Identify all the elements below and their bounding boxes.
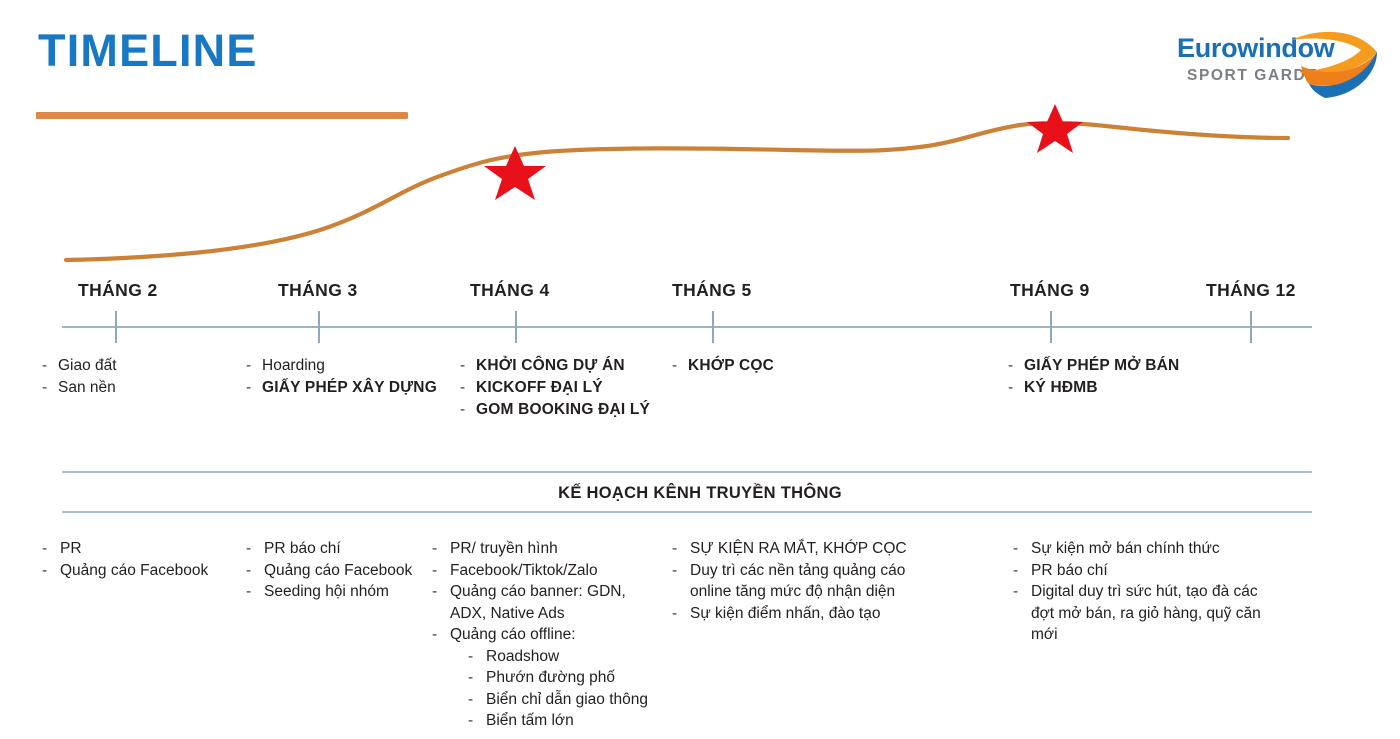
axis-tick-month4 [515,311,517,343]
media-item: - SỰ KIỆN RA MẮT, KHỚP CỌC [672,538,934,560]
media-item: - PR/ truyền hình [432,538,664,560]
bullet-dash: - [460,377,476,399]
media-subitem: - Biển chỉ dẫn giao thông [432,689,664,711]
media-item-text: Quảng cáo Facebook [60,560,242,582]
bullet-dash: - [246,560,264,582]
month-label: THÁNG 5 [672,282,752,300]
media-item-text: Sự kiện mở bán chính thức [1031,538,1265,560]
axis-tick-month9 [1050,311,1052,343]
media-subitem-text: Biển chỉ dẫn giao thông [486,689,648,711]
timeline-column-month2[interactable]: THÁNG 2 - Giao đất - San nền [78,282,158,300]
bullet-dash: - [42,377,58,399]
bullet-dash: - [468,710,486,732]
bullet-dash: - [672,560,690,582]
bullet-dash: - [460,355,476,377]
bullet-dash: - [468,689,486,711]
bullet-dash: - [1008,355,1024,377]
media-item: - Seeding hội nhóm [246,581,436,603]
media-item-text: PR báo chí [1031,560,1265,582]
milestone-item: - Giao đất [42,355,122,377]
media-item: - PR báo chí [1013,560,1265,582]
milestone-list: - GIẤY PHÉP MỞ BÁN - KÝ HĐMB [1008,355,1088,399]
bullet-dash: - [246,377,262,399]
timeline-column-month9[interactable]: THÁNG 9 - GIẤY PHÉP MỞ BÁN - KÝ HĐMB [1010,282,1090,300]
bullet-dash: - [432,581,450,603]
bullet-dash: - [1013,581,1031,603]
media-subitem: - Biển tấm lớn [432,710,664,732]
bullet-dash: - [1013,538,1031,560]
month-label: THÁNG 2 [78,282,158,300]
bullet-dash: - [42,538,60,560]
axis-tick-month2 [115,311,117,343]
media-plan-column-2: - PR báo chí - Quảng cáo Facebook - Seed… [246,538,436,603]
milestone-item: - San nền [42,377,122,399]
milestone-item: - Hoarding [246,355,326,377]
media-item: - Quảng cáo offline: [432,624,664,646]
media-item: - Quảng cáo Facebook [246,560,436,582]
bullet-dash: - [468,646,486,668]
milestone-item: - GIẤY PHÉP XÂY DỰNG [246,377,326,399]
media-item-text: Facebook/Tiktok/Zalo [450,560,664,582]
milestone-item: - KHỚP CỌC [672,355,752,377]
milestone-list: - KHỚP CỌC [672,355,752,377]
timeline-column-month5[interactable]: THÁNG 5 - KHỚP CỌC [672,282,752,300]
media-subitem-text: Roadshow [486,646,559,668]
media-item-text: PR/ truyền hình [450,538,664,560]
milestone-text: GOM BOOKING ĐẠI LÝ [476,399,650,421]
axis-tick-month5 [712,311,714,343]
timeline-column-month12[interactable]: THÁNG 12 [1206,282,1296,300]
milestone-text: Giao đất [58,355,117,377]
bullet-dash: - [672,355,688,377]
media-plan-rule-top [62,471,1312,473]
media-item: - Duy trì các nền tảng quảng cáo online … [672,560,934,603]
month-label: THÁNG 9 [1010,282,1090,300]
month-label: THÁNG 4 [470,282,550,300]
eurowindow-logo: Eurowindow SPORT GARDEN [1167,26,1372,98]
media-item: - Digital duy trì sức hút, tạo đà các đợ… [1013,581,1265,646]
milestone-text: San nền [58,377,116,399]
bullet-dash: - [672,603,690,625]
media-item: - Sự kiện điểm nhấn, đào tạo [672,603,934,625]
media-item: - Facebook/Tiktok/Zalo [432,560,664,582]
media-item-text: Duy trì các nền tảng quảng cáo online tă… [690,560,934,603]
media-item: - PR báo chí [246,538,436,560]
milestone-item: - GOM BOOKING ĐẠI LÝ [460,399,540,421]
media-plan-rule-bottom [62,511,1312,513]
timeline-column-month4[interactable]: THÁNG 4 - KHỞI CÔNG DỰ ÁN - KICKOFF ĐẠI … [470,282,550,300]
milestone-item: - GIẤY PHÉP MỞ BÁN [1008,355,1088,377]
media-item-text: SỰ KIỆN RA MẮT, KHỚP CỌC [690,538,934,560]
media-plan-column-1: - PR - Quảng cáo Facebook [42,538,242,581]
milestone-text: GIẤY PHÉP XÂY DỰNG [262,377,437,399]
milestone-list: - KHỞI CÔNG DỰ ÁN - KICKOFF ĐẠI LÝ - GOM… [460,355,540,421]
media-item: - Sự kiện mở bán chính thức [1013,538,1265,560]
bullet-dash: - [1008,377,1024,399]
bullet-dash: - [246,355,262,377]
media-subitem: - Roadshow [432,646,664,668]
milestone-text: KHỚP CỌC [688,355,774,377]
media-item-text: Sự kiện điểm nhấn, đào tạo [690,603,934,625]
media-item-text: Seeding hội nhóm [264,581,436,603]
axis-tick-month3 [318,311,320,343]
milestone-text: KÝ HĐMB [1024,377,1098,399]
milestone-list: - Giao đất - San nền [42,355,122,399]
media-plan-heading: KẾ HOẠCH KÊNH TRUYỀN THÔNG [0,484,1400,503]
media-item: - PR [42,538,242,560]
bullet-dash: - [460,399,476,421]
page-title: TIMELINE [38,28,258,73]
month-label: THÁNG 12 [1206,282,1296,300]
growth-curve-chart [0,90,1400,300]
milestone-text: GIẤY PHÉP MỞ BÁN [1024,355,1179,377]
bullet-dash: - [432,560,450,582]
bullet-dash: - [432,624,450,646]
media-subitem-text: Biển tấm lớn [486,710,574,732]
bullet-dash: - [1013,560,1031,582]
milestone-item: - KICKOFF ĐẠI LÝ [460,377,540,399]
milestone-text: KICKOFF ĐẠI LÝ [476,377,603,399]
media-item-text: Digital duy trì sức hút, tạo đà các đợt … [1031,581,1265,646]
bullet-dash: - [432,538,450,560]
milestone-star-month9 [1027,104,1083,153]
media-item: - Quảng cáo banner: GDN, ADX, Native Ads [432,581,664,624]
bullet-dash: - [246,581,264,603]
media-plan-column-4: - SỰ KIỆN RA MẮT, KHỚP CỌC - Duy trì các… [672,538,934,624]
milestone-list: - Hoarding - GIẤY PHÉP XÂY DỰNG [246,355,326,399]
media-plan-column-3: - PR/ truyền hình - Facebook/Tiktok/Zalo… [432,538,664,732]
timeline-column-month3[interactable]: THÁNG 3 - Hoarding - GIẤY PHÉP XÂY DỰNG [278,282,358,300]
media-subitem: - Phướn đường phố [432,667,664,689]
media-item-text: PR [60,538,242,560]
media-item-text: Quảng cáo Facebook [264,560,436,582]
milestone-item: - KHỞI CÔNG DỰ ÁN [460,355,540,377]
media-plan-column-5: - Sự kiện mở bán chính thức - PR báo chí… [1013,538,1265,646]
media-subitem-text: Phướn đường phố [486,667,615,689]
media-item-text: Quảng cáo banner: GDN, ADX, Native Ads [450,581,664,624]
bullet-dash: - [42,355,58,377]
growth-curve-line [66,123,1288,260]
bullet-dash: - [246,538,264,560]
bullet-dash: - [672,538,690,560]
axis-tick-month12 [1250,311,1252,343]
month-label: THÁNG 3 [278,282,358,300]
media-item: - Quảng cáo Facebook [42,560,242,582]
media-item-text: Quảng cáo offline: [450,624,664,646]
bullet-dash: - [468,667,486,689]
bullet-dash: - [42,560,60,582]
milestone-text: Hoarding [262,355,325,377]
swoosh-icon [1285,22,1381,98]
media-item-text: PR báo chí [264,538,436,560]
milestone-text: KHỞI CÔNG DỰ ÁN [476,355,625,377]
timeline-axis [62,326,1312,328]
milestone-item: - KÝ HĐMB [1008,377,1088,399]
